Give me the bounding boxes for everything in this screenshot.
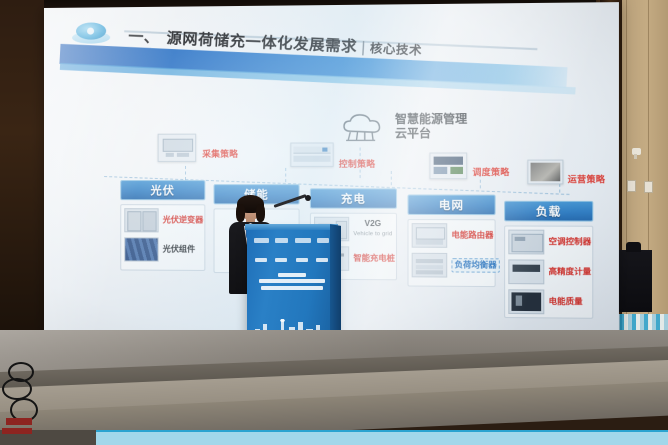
speaker-cabinet <box>616 250 652 312</box>
strategy-label: 运营策略 <box>568 173 606 185</box>
column-grid: 电网 电能路由器 <box>407 194 495 287</box>
title-separator: | <box>361 39 367 57</box>
energy-router-image <box>412 223 448 248</box>
title-number: 一、 <box>128 28 160 47</box>
column-load: 负载 空调控制器 高精度计量 <box>504 201 593 319</box>
item-label: 负荷均衡器 <box>451 258 499 273</box>
load-balancer-image <box>412 253 448 278</box>
cloud-label-line2: 云平台 <box>395 127 467 142</box>
column-item: 空调控制器 <box>508 230 589 255</box>
item-label: V2G Vehicle to grid <box>353 219 392 240</box>
device-thumb-meter <box>158 134 197 162</box>
column-item: 电能路由器 <box>412 223 492 248</box>
strategy-label: 控制策略 <box>339 158 376 170</box>
column-header: 电网 <box>407 194 495 215</box>
dashed-drop-line <box>285 168 286 182</box>
slide-logo-icon <box>70 19 114 47</box>
pv-inverter-image <box>124 208 158 232</box>
wall-switch-icon <box>644 181 653 193</box>
podium-top <box>245 224 338 230</box>
cloud-icon <box>339 113 389 148</box>
bottom-blue-strip <box>96 430 668 445</box>
podium-host-names <box>255 258 328 262</box>
column-header: 充电 <box>310 188 397 209</box>
item-label: 智能充电桩 <box>353 254 395 264</box>
cloud-label-line1: 智慧能源管理 <box>395 112 467 127</box>
presentation-photo: 一、源网荷储充一体化发展需求|核心技术 智慧能源管理 云平台 <box>0 0 668 445</box>
podium <box>247 228 336 346</box>
wall-switch-icon <box>627 180 636 192</box>
strategy-label: 采集策略 <box>202 148 238 160</box>
item-label: 高精度计量 <box>549 267 592 278</box>
column-item: 光伏逆变器 <box>124 208 201 232</box>
v2g-subtitle: Vehicle to grid <box>353 229 392 239</box>
power-quality-image <box>508 289 544 314</box>
cable-bundle <box>0 352 56 445</box>
microphone-icon <box>305 195 311 201</box>
column-item: 电能质量 <box>508 289 589 314</box>
column-item: 高精度计量 <box>508 259 589 284</box>
left-wall <box>0 0 44 330</box>
pv-module-image <box>124 237 158 261</box>
column-header: 负载 <box>504 201 593 222</box>
device-thumb-equipment <box>527 160 563 185</box>
column-body: 光伏逆变器 光伏组件 <box>120 204 205 271</box>
title-sub: 核心技术 <box>370 41 423 58</box>
podium-sponsor-logos <box>253 235 330 246</box>
podium-event-title <box>256 270 327 292</box>
item-label: 空调控制器 <box>549 237 592 248</box>
dashed-drop-line <box>185 166 186 180</box>
column-pv: 光伏 光伏逆变器 光伏组件 <box>120 180 205 271</box>
metering-image <box>508 259 544 284</box>
device-thumb-controller <box>290 142 333 166</box>
item-label: 光伏组件 <box>163 245 195 255</box>
column-header: 光伏 <box>120 180 205 200</box>
strategy-label: 调度策略 <box>472 166 509 178</box>
item-label: 电能质量 <box>549 297 583 308</box>
column-item: 光伏组件 <box>124 237 201 262</box>
item-label: 电能路由器 <box>451 230 493 240</box>
v2g-title: V2G <box>365 219 382 228</box>
wall-camera-icon <box>632 148 641 155</box>
device-thumb-cabinet <box>429 152 467 179</box>
column-body: 电能路由器 负荷均衡器 <box>407 219 495 287</box>
column-item: 负荷均衡器 <box>412 253 492 278</box>
ac-controller-image <box>508 230 544 255</box>
item-label: 光伏逆变器 <box>163 215 204 225</box>
dashed-drop-line <box>391 171 392 185</box>
column-body: 空调控制器 高精度计量 电能质量 <box>504 225 593 318</box>
cloud-platform-label: 智慧能源管理 云平台 <box>395 112 467 141</box>
